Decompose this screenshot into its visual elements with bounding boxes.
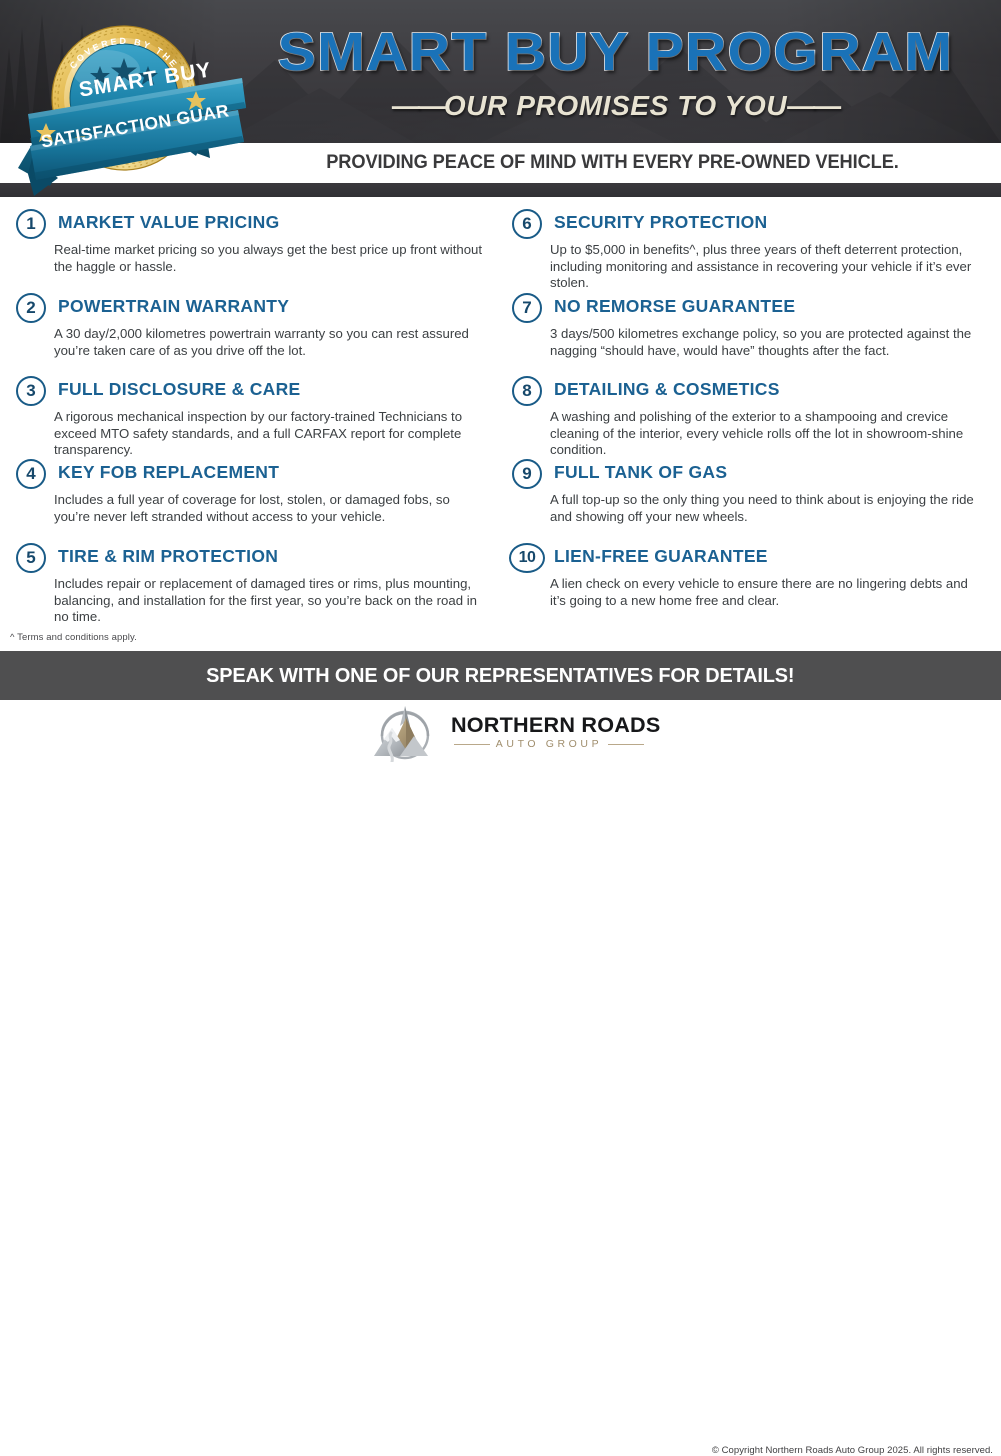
terms-disclaimer: ^ Terms and conditions apply. xyxy=(10,632,137,643)
promise-title: DETAILING & COSMETICS xyxy=(554,379,780,400)
promise-body: Up to $5,000 in benefits^, plus three ye… xyxy=(550,242,986,292)
cta-bar[interactable]: SPEAK WITH ONE OF OUR REPRESENTATIVES FO… xyxy=(0,651,1001,700)
promise-item: 7 NO REMORSE GUARANTEE 3 days/500 kilome… xyxy=(508,293,986,359)
promise-header: 1 MARKET VALUE PRICING xyxy=(12,209,490,239)
promise-header: 3 FULL DISCLOSURE & CARE xyxy=(12,376,490,406)
tagline-text: PROVIDING PEACE OF MIND WITH EVERY PRE-O… xyxy=(255,143,970,183)
promise-body: 3 days/500 kilometres exchange policy, s… xyxy=(550,326,986,359)
promise-title: POWERTRAIN WARRANTY xyxy=(58,296,289,317)
promise-item: 4 KEY FOB REPLACEMENT Includes a full ye… xyxy=(12,459,490,525)
promises-content: 1 MARKET VALUE PRICING Real-time market … xyxy=(0,197,1001,629)
promise-title: LIEN-FREE GUARANTEE xyxy=(554,546,768,567)
promise-body: A 30 day/2,000 kilometres powertrain war… xyxy=(54,326,490,359)
smart-buy-program-flyer: SMART BUY PROGRAM ——OUR PROMISES TO YOU—… xyxy=(0,0,1001,768)
promise-header: 10 LIEN-FREE GUARANTEE xyxy=(508,543,986,573)
page-title: SMART BUY PROGRAM xyxy=(215,24,1001,80)
promise-number: 1 xyxy=(16,209,46,239)
promise-item: 10 LIEN-FREE GUARANTEE A lien check on e… xyxy=(508,543,986,609)
promise-item: 9 FULL TANK OF GAS A full top-up so the … xyxy=(508,459,986,525)
promise-number: 3 xyxy=(16,376,46,406)
promise-number: 4 xyxy=(16,459,46,489)
promise-number: 6 xyxy=(512,209,542,239)
promise-header: 6 SECURITY PROTECTION xyxy=(508,209,986,239)
promise-title: TIRE & RIM PROTECTION xyxy=(58,546,278,567)
promise-item: 6 SECURITY PROTECTION Up to $5,000 in be… xyxy=(508,209,986,292)
cta-text: SPEAK WITH ONE OF OUR REPRESENTATIVES FO… xyxy=(206,664,794,688)
promise-item: 5 TIRE & RIM PROTECTION Includes repair … xyxy=(12,543,490,626)
promise-title: SECURITY PROTECTION xyxy=(554,212,767,233)
promise-item: 1 MARKET VALUE PRICING Real-time market … xyxy=(12,209,490,275)
promise-item: 3 FULL DISCLOSURE & CARE A rigorous mech… xyxy=(12,376,490,459)
promise-body: A washing and polishing of the exterior … xyxy=(550,409,986,459)
promise-number: 5 xyxy=(16,543,46,573)
copyright-text: © Copyright Northern Roads Auto Group 20… xyxy=(712,1445,993,1456)
promise-header: 8 DETAILING & COSMETICS xyxy=(508,376,986,406)
promise-title: KEY FOB REPLACEMENT xyxy=(58,462,279,483)
logo-rule-right xyxy=(608,744,644,745)
promise-number: 9 xyxy=(512,459,542,489)
promise-title: FULL TANK OF GAS xyxy=(554,462,727,483)
promise-item: 2 POWERTRAIN WARRANTY A 30 day/2,000 kil… xyxy=(12,293,490,359)
promise-header: 9 FULL TANK OF GAS xyxy=(508,459,986,489)
satisfaction-guarantee-badge: COVERED BY THE SMART BUY SATISFACTION GU… xyxy=(14,0,254,198)
promise-item: 8 DETAILING & COSMETICS A washing and po… xyxy=(508,376,986,459)
promise-header: 4 KEY FOB REPLACEMENT xyxy=(12,459,490,489)
promise-header: 7 NO REMORSE GUARANTEE xyxy=(508,293,986,323)
page-subtitle: ——OUR PROMISES TO YOU—— xyxy=(238,90,993,122)
logo-subtitle-row: AUTO GROUP xyxy=(454,738,644,750)
promise-body: A full top-up so the only thing you need… xyxy=(550,492,986,525)
dash-right: —— xyxy=(787,90,839,122)
promise-header: 5 TIRE & RIM PROTECTION xyxy=(12,543,490,573)
promise-title: NO REMORSE GUARANTEE xyxy=(554,296,795,317)
logo-rule-left xyxy=(454,744,490,745)
promise-body: Includes a full year of coverage for los… xyxy=(54,492,490,525)
logo-subtitle: AUTO GROUP xyxy=(496,738,602,750)
promise-header: 2 POWERTRAIN WARRANTY xyxy=(12,293,490,323)
promise-number: 2 xyxy=(16,293,46,323)
promise-number: 10 xyxy=(509,543,545,573)
footer: NORTHERN ROADS AUTO GROUP © Copyright No… xyxy=(0,700,1001,768)
promise-body: A lien check on every vehicle to ensure … xyxy=(550,576,986,609)
promise-body: Real-time market pricing so you always g… xyxy=(54,242,490,275)
promise-number: 8 xyxy=(512,376,542,406)
promise-title: MARKET VALUE PRICING xyxy=(58,212,280,233)
promise-number: 7 xyxy=(512,293,542,323)
mountain-compass-logo-icon xyxy=(366,706,444,762)
logo-name: NORTHERN ROADS xyxy=(451,714,661,738)
promise-body: Includes repair or replacement of damage… xyxy=(54,576,490,626)
dash-left: —— xyxy=(392,90,444,122)
company-logo: NORTHERN ROADS AUTO GROUP xyxy=(366,704,646,762)
subtitle-text: OUR PROMISES TO YOU xyxy=(444,90,787,121)
promise-body: A rigorous mechanical inspection by our … xyxy=(54,409,490,459)
promise-title: FULL DISCLOSURE & CARE xyxy=(58,379,301,400)
